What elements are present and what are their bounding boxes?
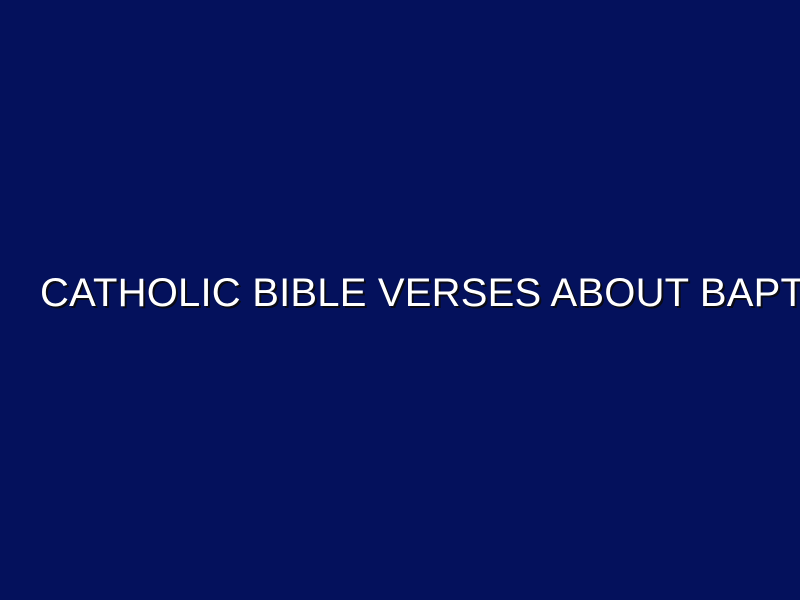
- page-title: CATHOLIC BIBLE VERSES ABOUT BAPTISM: [0, 272, 800, 314]
- title-card: CATHOLIC BIBLE VERSES ABOUT BAPTISM: [0, 0, 800, 600]
